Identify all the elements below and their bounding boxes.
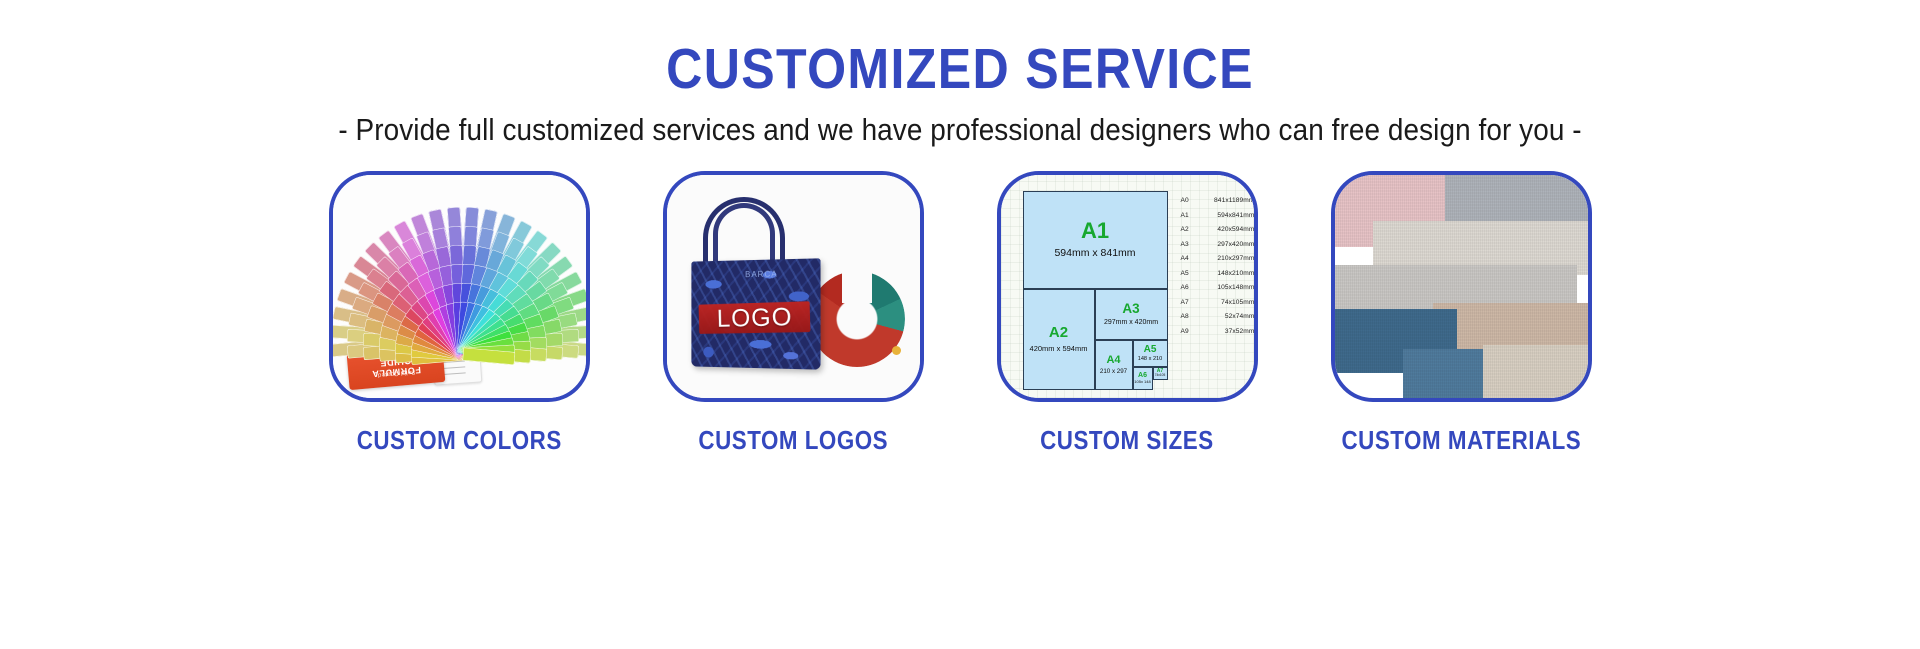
pillow-clip-icon xyxy=(892,346,901,355)
paper-box-a6-dim: 105x 148 xyxy=(1134,380,1150,384)
paper-box-a5-name: A5 xyxy=(1144,345,1157,355)
paper-box-a1-name: A1 xyxy=(1081,220,1109,242)
paper-size-value: 297x420mm xyxy=(1196,241,1254,248)
paper-size-row: A6105x148mm xyxy=(1181,284,1254,291)
paper-box-a2: A2 420mm x 594mm xyxy=(1023,289,1095,390)
card-custom-materials[interactable]: CUSTOM MATERIALS xyxy=(1331,171,1592,456)
card-label-custom-colors: CUSTOM COLORS xyxy=(356,425,561,456)
paper-size-row: A852x74mm xyxy=(1181,313,1254,320)
page-subtitle: - Provide full customized services and w… xyxy=(96,112,1824,148)
paper-box-a4-name: A4 xyxy=(1106,355,1120,366)
card-frame-custom-materials[interactable] xyxy=(1331,171,1592,402)
paper-size-value: 52x74mm xyxy=(1196,313,1254,320)
header-block: CUSTOMIZED SERVICE - Provide full custom… xyxy=(0,40,1920,148)
paper-size-key: A4 xyxy=(1181,255,1196,262)
paper-box-a3-dim: 297mm x 420mm xyxy=(1104,319,1158,327)
paper-box-a6-name: A6 xyxy=(1138,372,1147,379)
paper-size-key: A0 xyxy=(1181,197,1196,204)
paper-size-row: A0841x1189mm xyxy=(1181,197,1254,204)
paper-box-a3-name: A3 xyxy=(1122,302,1139,316)
paper-size-value: 210x297mm xyxy=(1196,255,1254,262)
paper-box-a2-dim: 420mm x 594mm xyxy=(1030,345,1088,353)
card-label-custom-sizes: CUSTOM SIZES xyxy=(1040,425,1214,456)
paper-box-a6: A6 105x 148 xyxy=(1133,367,1153,390)
paper-size-row: A4210x297mm xyxy=(1181,255,1254,262)
paper-size-row: A1594x841mm xyxy=(1181,212,1254,219)
card-label-custom-materials: CUSTOM MATERIALS xyxy=(1341,425,1581,456)
paper-size-value: 841x1189mm xyxy=(1196,197,1254,204)
fabric-swatches-image xyxy=(1335,175,1588,398)
paper-size-value: 148x210mm xyxy=(1196,270,1254,277)
paper-size-key: A9 xyxy=(1181,328,1196,335)
paper-size-value: 37x52mm xyxy=(1196,328,1254,335)
paper-box-a1-dim: 594mm x 841mm xyxy=(1054,248,1135,260)
fabric-swatch-cream-2 xyxy=(1483,345,1588,398)
paper-size-key: A1 xyxy=(1181,212,1196,219)
paper-box-a4-dim: 210 x 297 xyxy=(1100,369,1127,376)
paper-box-a7: A7 74x105 xyxy=(1153,367,1168,380)
paper-box-a5: A5 148 x 210 xyxy=(1133,340,1168,367)
paper-size-key: A2 xyxy=(1181,226,1196,233)
tote-bag-image: BARCA LOGO xyxy=(667,175,920,398)
paper-box-a1: A1 594mm x 841mm xyxy=(1023,191,1168,289)
bag-logo-text: LOGO xyxy=(691,301,820,334)
paper-size-key: A3 xyxy=(1181,241,1196,248)
card-frame-custom-logos[interactable]: BARCA LOGO xyxy=(663,171,924,402)
paper-size-reference-list: A0841x1189mmA1594x841mmA2420x594mmA3297x… xyxy=(1181,197,1254,335)
tote-bag-body: BARCA LOGO xyxy=(691,258,820,369)
paper-size-value: 420x594mm xyxy=(1196,226,1254,233)
paper-size-key: A5 xyxy=(1181,270,1196,277)
paper-size-key: A7 xyxy=(1181,299,1196,306)
service-cards-row: FORMULA GUIDE Solid Coated CUSTOM COLORS xyxy=(0,171,1920,456)
card-custom-sizes[interactable]: A1 594mm x 841mm A2 420mm x 594mm A3 297… xyxy=(997,171,1258,456)
card-frame-custom-sizes[interactable]: A1 594mm x 841mm A2 420mm x 594mm A3 297… xyxy=(997,171,1258,402)
paper-size-row: A2420x594mm xyxy=(1181,226,1254,233)
paper-size-row: A5148x210mm xyxy=(1181,270,1254,277)
paper-box-a3: A3 297mm x 420mm xyxy=(1095,289,1168,340)
paper-box-a2-name: A2 xyxy=(1049,325,1068,340)
paper-size-row: A937x52mm xyxy=(1181,328,1254,335)
bag-handle-inner xyxy=(713,203,775,263)
paper-size-key: A8 xyxy=(1181,313,1196,320)
card-custom-logos[interactable]: BARCA LOGO CUSTOM LOGOS xyxy=(663,171,924,456)
customized-service-banner: CUSTOMIZED SERVICE - Provide full custom… xyxy=(0,0,1920,649)
neck-pillow-image xyxy=(809,271,905,367)
paper-size-key: A6 xyxy=(1181,284,1196,291)
card-label-custom-logos: CUSTOM LOGOS xyxy=(698,425,888,456)
card-custom-colors[interactable]: FORMULA GUIDE Solid Coated CUSTOM COLORS xyxy=(329,171,590,456)
paper-box-a4: A4 210 x 297 xyxy=(1095,340,1133,390)
paper-box-a5-dim: 148 x 210 xyxy=(1138,356,1163,362)
paper-box-a7-dim: 74x105 xyxy=(1155,374,1165,378)
paper-size-row: A3297x420mm xyxy=(1181,241,1254,248)
card-frame-custom-colors[interactable]: FORMULA GUIDE Solid Coated xyxy=(329,171,590,402)
paper-size-diagram: A1 594mm x 841mm A2 420mm x 594mm A3 297… xyxy=(1001,175,1254,398)
paper-size-value: 74x105mm xyxy=(1196,299,1254,306)
bag-brand-text: BARCA xyxy=(745,270,778,280)
paper-size-value: 105x148mm xyxy=(1196,284,1254,291)
paper-size-row: A774x105mm xyxy=(1181,299,1254,306)
paper-size-value: 594x841mm xyxy=(1196,212,1254,219)
page-title: CUSTOMIZED SERVICE xyxy=(115,40,1805,100)
pantone-fan-deck-image: FORMULA GUIDE Solid Coated xyxy=(333,175,586,398)
